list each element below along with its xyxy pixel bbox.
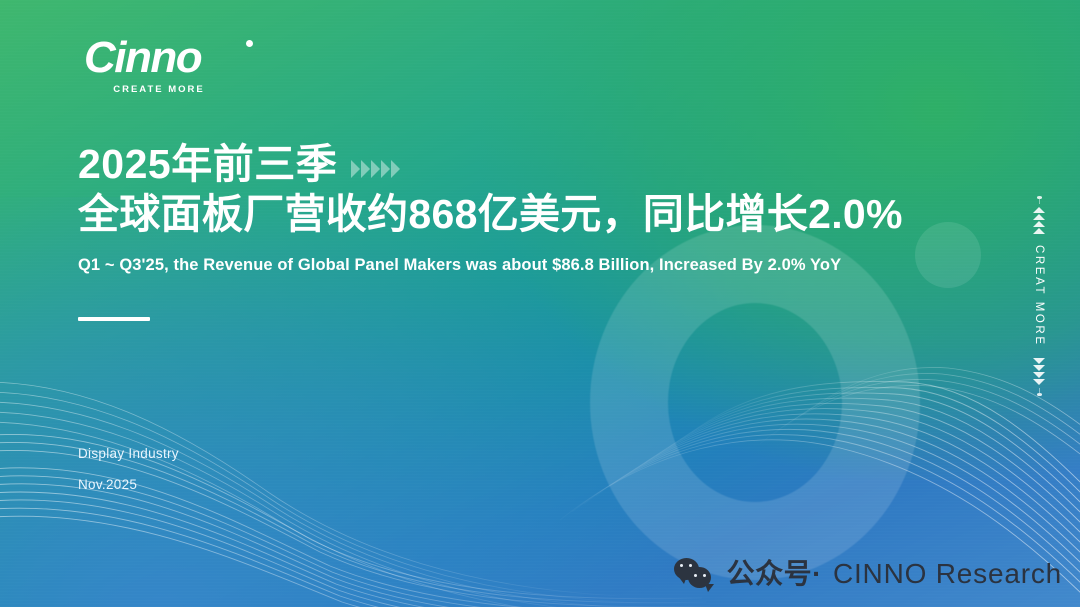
- title-line2: 全球面板厂营收约868亿美元，同比增长2.0%: [78, 190, 1008, 239]
- title-line1-row: 2025年前三季: [78, 142, 1008, 188]
- watermark-en-label: CINNO Research: [833, 560, 1062, 588]
- cinno-logo[interactable]: Cinno CREATE MORE: [84, 36, 244, 95]
- wechat-watermark: 公众号· CINNO Research: [674, 557, 1062, 591]
- watermark-cn-label: 公众号·: [727, 560, 822, 588]
- rail-top-stem: [1039, 199, 1040, 205]
- logo-tagline: CREATE MORE: [84, 84, 234, 95]
- chevron-down-decoration-icon: [1033, 358, 1045, 385]
- slide-canvas: Cinno CREATE MORE 2025年前三季 全球面板厂营收约868亿美…: [0, 0, 1080, 607]
- chevron-up-decoration-icon: [1033, 207, 1045, 234]
- title-line1: 2025年前三季: [78, 142, 337, 188]
- meta-date: Nov.2025: [78, 478, 179, 492]
- logo-dot-icon: [246, 40, 253, 47]
- subtitle-english: Q1 ~ Q3'25, the Revenue of Global Panel …: [78, 256, 1008, 275]
- rail-bottom-dot-icon: [1037, 393, 1042, 396]
- rail-label: CREAT MORE: [1033, 245, 1045, 347]
- divider-rule: [78, 317, 150, 321]
- side-rail: CREAT MORE: [1025, 196, 1053, 396]
- headline-block: 2025年前三季 全球面板厂营收约868亿美元，同比增长2.0% Q1 ~ Q3…: [78, 142, 1008, 321]
- chevron-right-decoration-icon: [351, 160, 400, 178]
- meta-industry: Display Industry: [78, 447, 179, 461]
- meta-block: Display Industry Nov.2025: [78, 447, 179, 491]
- wechat-icon: [674, 557, 716, 591]
- logo-wordmark: Cinno: [84, 36, 201, 80]
